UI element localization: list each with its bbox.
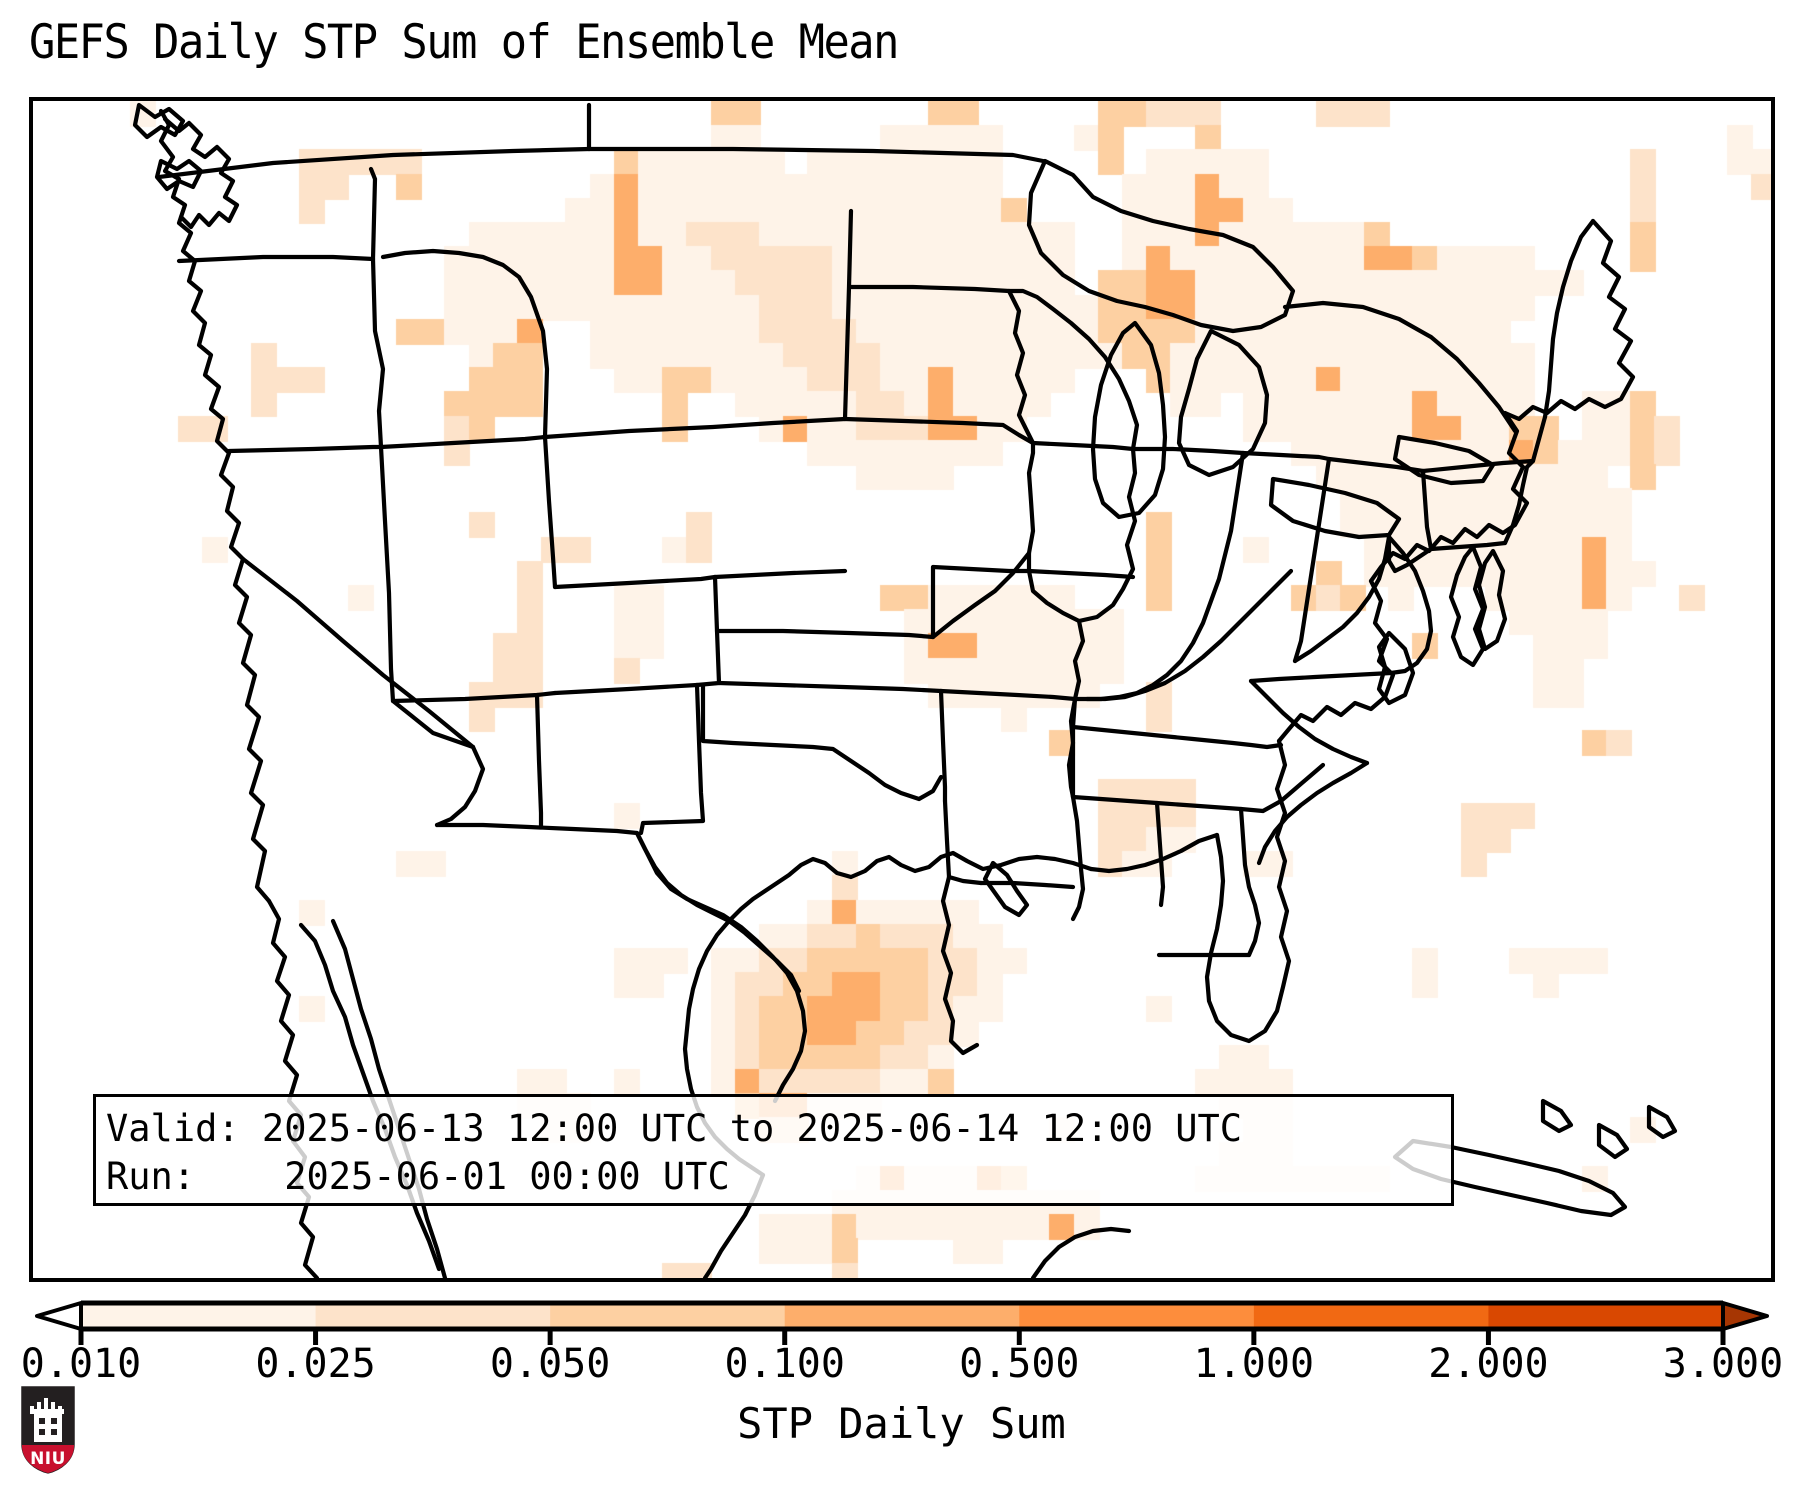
new-england-coast: [1505, 221, 1633, 419]
vancouver-island: [135, 105, 183, 137]
colorbar-band-1: [316, 1303, 551, 1329]
ok-ar-border: [941, 691, 945, 801]
lake-superior: [1029, 161, 1293, 331]
mississippi-delta: [985, 863, 1027, 915]
colorbar-under-arrow: [37, 1303, 81, 1329]
ks-ok-border: [719, 683, 941, 691]
ca-nv-border: [243, 559, 473, 747]
tx-la-sabine: [943, 877, 977, 1053]
nd-sd-border: [851, 287, 1009, 291]
co-wy-border: [555, 577, 715, 587]
va-nc-border: [1251, 673, 1391, 681]
colorbar-tick-labels: 0.0100.0250.0500.1000.5001.0002.0003.000: [0, 1340, 1803, 1390]
colorbar-svg: [29, 1285, 1775, 1345]
colorbar-axis-label: STP Daily Sum: [0, 1398, 1803, 1450]
la-ms-border: [1073, 797, 1083, 919]
niu-logo-svg: NIU: [17, 1382, 79, 1478]
page-title: GEFS Daily STP Sum of Ensemble Mean: [29, 14, 898, 72]
wi-il-border: [1133, 449, 1243, 453]
map-panel: Valid: 2025-06-13 12:00 UTC to 2025-06-1…: [29, 97, 1775, 1282]
colorbar-tick-label-5: 1.000: [1194, 1340, 1314, 1388]
ny-vt-nh-border: [1545, 221, 1593, 417]
ms-al-border: [1157, 803, 1163, 905]
bahamas-3: [1649, 1107, 1675, 1137]
mn-ia-border: [1033, 443, 1133, 449]
chesapeake-delaware: [1451, 547, 1483, 665]
ne-ks-border: [717, 631, 933, 637]
info-run-line: Run: 2025-06-01 00:00 UTC: [106, 1153, 1451, 1201]
oh-wv-pa-border: [1329, 459, 1423, 471]
tx-ar-la-border: [945, 801, 981, 883]
delmarva: [1479, 551, 1505, 649]
colorbar-tick-label-4: 0.500: [959, 1340, 1079, 1388]
yucatan-coast: [1033, 1229, 1129, 1278]
id-nv-ut-corner: [381, 437, 545, 447]
ar-la-border: [981, 883, 1073, 887]
california-baja-coast: [269, 901, 317, 1278]
colorbar-tick-label-0: 0.010: [21, 1340, 141, 1388]
info-box: Valid: 2025-06-13 12:00 UTC to 2025-06-1…: [93, 1094, 1454, 1206]
ca-az-border: [437, 747, 483, 825]
bahamas-1: [1543, 1101, 1571, 1131]
al-ga-border: [1241, 809, 1259, 955]
canada-lakes-shore: [1285, 303, 1515, 431]
sd-ne-border: [845, 419, 1033, 443]
info-valid-line: Valid: 2025-06-13 12:00 UTC to 2025-06-1…: [106, 1105, 1451, 1153]
id-mt-wy-border: [383, 251, 547, 437]
mid-atlantic-coast: [1371, 413, 1527, 581]
in-oh-border: [1243, 453, 1329, 661]
nd-mn-border: [1009, 291, 1033, 443]
mo-ar-border: [941, 691, 1075, 699]
ky-tn-border: [1073, 699, 1281, 747]
pacific-coastline: [161, 111, 269, 901]
wv-va-border: [1389, 537, 1431, 673]
wa-or-border: [179, 257, 373, 261]
ne-ia-mo-border: [933, 443, 1033, 637]
mt-wy-border: [545, 419, 845, 437]
nm-co-border: [555, 685, 697, 693]
niu-logo: NIU: [17, 1382, 79, 1478]
colorbar-band-3: [785, 1303, 1020, 1329]
az-nm-border: [537, 695, 541, 827]
colorbar-band-0: [81, 1303, 316, 1329]
niu-logo-text: NIU: [30, 1449, 66, 1469]
tn-border-south: [1073, 765, 1323, 811]
colorbar-over-arrow: [1723, 1303, 1767, 1329]
nm-tx-border: [641, 685, 703, 833]
lake-michigan: [1093, 323, 1165, 517]
nc-sc-border: [1251, 681, 1367, 763]
us-canada-border-east: [589, 149, 1043, 161]
lake-erie: [1271, 479, 1399, 537]
colorbar-band-5: [1254, 1303, 1489, 1329]
nv-az-border: [393, 701, 473, 747]
georgia-florida-coast: [1207, 741, 1289, 1041]
sc-ga-border: [1259, 763, 1367, 863]
colorbar-tick-label-3: 0.100: [724, 1340, 844, 1388]
colorbar-band-6: [1488, 1303, 1723, 1329]
colorbar-band-2: [550, 1303, 785, 1329]
gefs-stp-map-figure: GEFS Daily STP Sum of Ensemble Mean: [0, 0, 1803, 1500]
colorbar-tick-label-1: 0.025: [255, 1340, 375, 1388]
colorbar-tick-label-6: 2.000: [1428, 1340, 1548, 1388]
colorbar-bands: [81, 1303, 1724, 1329]
ok-tx-panhandle: [703, 685, 941, 799]
nv-ut-border: [381, 447, 393, 701]
bahamas-2: [1599, 1125, 1627, 1157]
ut-az-border: [393, 693, 555, 701]
mt-nd-sd-border: [845, 211, 851, 419]
ia-mo-border: [1029, 571, 1133, 577]
wy-sd-ne-border: [715, 571, 845, 577]
mn-wi-border: [1009, 291, 1137, 449]
ia-il-border: [1029, 449, 1135, 621]
colorbar-tick-label-2: 0.050: [490, 1340, 610, 1388]
lake-ontario: [1395, 437, 1493, 483]
colorbar: [29, 1285, 1775, 1345]
wa-id-border: [371, 169, 375, 259]
mo-il-ky-border: [1075, 621, 1083, 699]
colorbar-tick-label-7: 3.000: [1663, 1340, 1783, 1388]
florida-gulf-coast: [1091, 835, 1217, 871]
colorbar-band-4: [1019, 1303, 1254, 1329]
or-id-border: [373, 259, 383, 447]
ut-wy-border: [545, 437, 555, 587]
or-ca-nv-border: [229, 447, 381, 451]
